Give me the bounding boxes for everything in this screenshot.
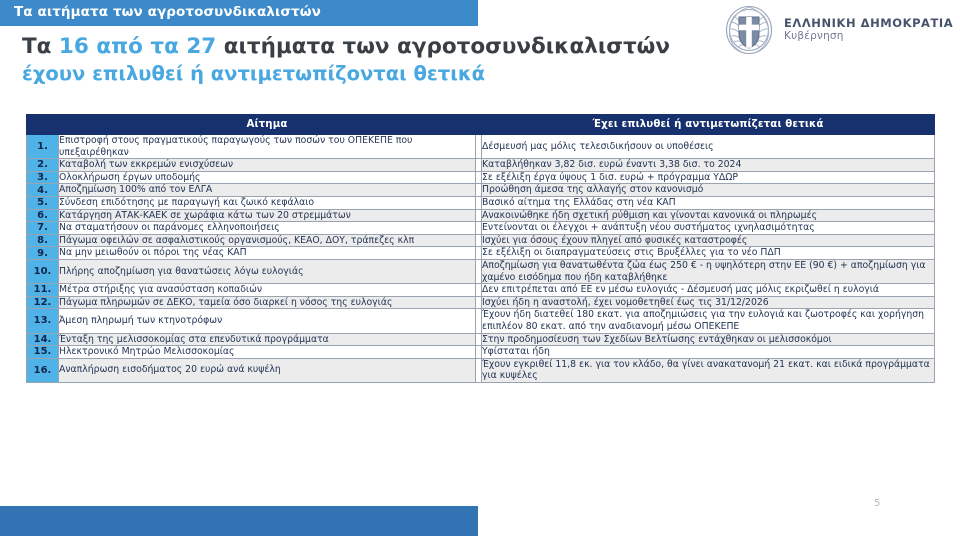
logo-line-1: ΕΛΛΗΝΙΚΗ ΔΗΜΟΚΡΑΤΙΑ xyxy=(784,17,953,30)
table-row: 1.Επιστροφή στους πραγματικούς παραγωγού… xyxy=(27,135,935,159)
footer-bar xyxy=(0,506,478,536)
headline-count-16: 16 xyxy=(59,34,89,59)
row-number: 6. xyxy=(27,209,59,222)
row-number: 14. xyxy=(27,333,59,346)
row-request-text: Καταβολή των εκκρεμών ενισχύσεων xyxy=(59,159,476,172)
row-request-text: Σύνδεση επιδότησης με παραγωγή και ζωικό… xyxy=(59,196,476,209)
row-answer-text: Αποζημίωση για θανατωθέντα ζώα έως 250 €… xyxy=(482,259,935,283)
row-answer-text: Έχουν εγκριθεί 11,8 εκ. για τον κλάδο, θ… xyxy=(482,358,935,382)
row-answer-text: Ανακοινώθηκε ήδη σχετική ρύθμιση και γίν… xyxy=(482,209,935,222)
row-request-text: Ένταξη της μελισσοκομίας στα επενδυτικά … xyxy=(59,333,476,346)
row-answer-text: Ισχύει ήδη η αναστολή, έχει νομοθετηθεί … xyxy=(482,296,935,309)
headline-line-2: έχουν επιλυθεί ή αντιμετωπίζονται θετικά xyxy=(22,61,662,86)
row-answer-text: Υφίσταται ήδη xyxy=(482,346,935,359)
table-row: 5.Σύνδεση επιδότησης με παραγωγή και ζωι… xyxy=(27,196,935,209)
row-number: 10. xyxy=(27,259,59,283)
row-answer-text: Στην προδημοσίευση των Σχεδίων Βελτίωσης… xyxy=(482,333,935,346)
slide-canvas: Τα αιτήματα των αγροτοσυνδικαλιστών Τα 1… xyxy=(0,0,960,536)
row-request-text: Αναπλήρωση εισοδήματος 20 ευρώ ανά κυψέλ… xyxy=(59,358,476,382)
row-number: 11. xyxy=(27,284,59,297)
table-row: 16.Αναπλήρωση εισοδήματος 20 ευρώ ανά κυ… xyxy=(27,358,935,382)
table-row: 15.Ηλεκτρονικό Μητρώο ΜελισσοκομίαςΥφίστ… xyxy=(27,346,935,359)
eyebrow-bar: Τα αιτήματα των αγροτοσυνδικαλιστών xyxy=(0,0,478,26)
col-header-answer: Έχει επιλυθεί ή αντιμετωπίζεται θετικά xyxy=(482,115,935,135)
row-request-text: Ολοκλήρωση έργων υποδομής xyxy=(59,171,476,184)
row-number: 4. xyxy=(27,184,59,197)
headline-seg-b: από xyxy=(89,34,151,59)
row-number: 2. xyxy=(27,159,59,172)
row-number: 5. xyxy=(27,196,59,209)
row-number: 9. xyxy=(27,247,59,260)
col-header-number xyxy=(27,115,59,135)
row-request-text: Αποζημίωση 100% από τον ΕΛΓΑ xyxy=(59,184,476,197)
table-row: 2.Καταβολή των εκκρεμών ενισχύσεωνΚαταβλ… xyxy=(27,159,935,172)
greek-coat-of-arms-icon xyxy=(723,4,775,56)
table-row: 8.Πάγωμα οφειλών σε ασφαλιστικούς οργανι… xyxy=(27,234,935,247)
col-header-request: Αίτημα xyxy=(59,115,476,135)
headline-count-27: τα 27 xyxy=(150,34,216,59)
table-header-row: Αίτημα Έχει επιλυθεί ή αντιμετωπίζεται θ… xyxy=(27,115,935,135)
requests-table-wrapper: Αίτημα Έχει επιλυθεί ή αντιμετωπίζεται θ… xyxy=(26,114,934,383)
row-request-text: Πάγωμα οφειλών σε ασφαλιστικούς οργανισμ… xyxy=(59,234,476,247)
row-request-text: Ηλεκτρονικό Μητρώο Μελισσοκομίας xyxy=(59,346,476,359)
row-number: 13. xyxy=(27,309,59,333)
headline-seg-c: αιτήματα των αγροτοσυνδικαλιστών xyxy=(216,34,670,59)
row-request-text: Άμεση πληρωμή των κτηνοτρόφων xyxy=(59,309,476,333)
government-logo: ΕΛΛΗΝΙΚΗ ΔΗΜΟΚΡΑΤΙΑ Κυβέρνηση xyxy=(723,4,953,56)
table-row: 10.Πλήρης αποζημίωση για θανατώσεις λόγω… xyxy=(27,259,935,283)
row-request-text: Να μην μειωθούν οι πόροι της νέας ΚΑΠ xyxy=(59,247,476,260)
table-row: 9.Να μην μειωθούν οι πόροι της νέας ΚΑΠΣ… xyxy=(27,247,935,260)
table-head: Αίτημα Έχει επιλυθεί ή αντιμετωπίζεται θ… xyxy=(27,115,935,135)
table-row: 14.Ένταξη της μελισσοκομίας στα επενδυτι… xyxy=(27,333,935,346)
row-request-text: Επιστροφή στους πραγματικούς παραγωγούς … xyxy=(59,135,476,159)
row-request-text: Πλήρης αποζημίωση για θανατώσεις λόγω ευ… xyxy=(59,259,476,283)
row-answer-text: Ισχύει για όσους έχουν πληγεί από φυσικέ… xyxy=(482,234,935,247)
row-number: 15. xyxy=(27,346,59,359)
table-row: 4.Αποζημίωση 100% από τον ΕΛΓΑΠροώθηση ά… xyxy=(27,184,935,197)
table-body: 1.Επιστροφή στους πραγματικούς παραγωγού… xyxy=(27,135,935,383)
table-row: 11.Μέτρα στήριξης για ανασύσταση κοπαδιώ… xyxy=(27,284,935,297)
row-number: 3. xyxy=(27,171,59,184)
row-number: 12. xyxy=(27,296,59,309)
row-answer-text: Προώθηση άμεσα της αλλαγής στον κανονισμ… xyxy=(482,184,935,197)
row-number: 7. xyxy=(27,222,59,235)
requests-table: Αίτημα Έχει επιλυθεί ή αντιμετωπίζεται θ… xyxy=(26,114,935,383)
headline-line-1: Τα 16 από τα 27 αιτήματα των αγροτοσυνδι… xyxy=(22,34,662,59)
row-number: 1. xyxy=(27,135,59,159)
row-answer-text: Καταβλήθηκαν 3,82 δισ. ευρώ έναντι 3,38 … xyxy=(482,159,935,172)
row-request-text: Κατάργηση ΑΤΑΚ-ΚΑΕΚ σε χωράφια κάτω των … xyxy=(59,209,476,222)
row-answer-text: Σε εξέλιξη έργα ύψους 1 δισ. ευρώ + πρόγ… xyxy=(482,171,935,184)
logo-text-block: ΕΛΛΗΝΙΚΗ ΔΗΜΟΚΡΑΤΙΑ Κυβέρνηση xyxy=(784,17,953,43)
table-row: 12.Πάγωμα πληρωμών σε ΔΕΚΟ, ταμεία όσο δ… xyxy=(27,296,935,309)
row-answer-text: Σε εξέλιξη οι διαπραγματεύσεις στις Βρυξ… xyxy=(482,247,935,260)
row-request-text: Μέτρα στήριξης για ανασύσταση κοπαδιών xyxy=(59,284,476,297)
page-number: 5 xyxy=(874,498,880,509)
row-answer-text: Δέσμευσή μας μόλις τελεσιδικήσουν οι υπο… xyxy=(482,135,935,159)
table-row: 7.Να σταματήσουν οι παράνομες ελληνοποιή… xyxy=(27,222,935,235)
table-row: 13.Άμεση πληρωμή των κτηνοτρόφωνΈχουν ήδ… xyxy=(27,309,935,333)
row-request-text: Να σταματήσουν οι παράνομες ελληνοποιήσε… xyxy=(59,222,476,235)
row-request-text: Πάγωμα πληρωμών σε ΔΕΚΟ, ταμεία όσο διαρ… xyxy=(59,296,476,309)
row-answer-text: Δεν επιτρέπεται από ΕΕ εν μέσω ευλογιάς … xyxy=(482,284,935,297)
row-answer-text: Έχουν ήδη διατεθεί 180 εκατ. για αποζημι… xyxy=(482,309,935,333)
headline-seg-a: Τα xyxy=(22,34,59,59)
row-answer-text: Βασικό αίτημα της Ελλάδας στη νέα ΚΑΠ xyxy=(482,196,935,209)
table-row: 6.Κατάργηση ΑΤΑΚ-ΚΑΕΚ σε χωράφια κάτω τω… xyxy=(27,209,935,222)
row-number: 8. xyxy=(27,234,59,247)
row-number: 16. xyxy=(27,358,59,382)
table-row: 3.Ολοκλήρωση έργων υποδομήςΣε εξέλιξη έρ… xyxy=(27,171,935,184)
eyebrow-title: Τα αιτήματα των αγροτοσυνδικαλιστών xyxy=(14,4,321,20)
row-answer-text: Εντείνονται οι έλεγχοι + ανάπτυξη νέου σ… xyxy=(482,222,935,235)
page-title: Τα 16 από τα 27 αιτήματα των αγροτοσυνδι… xyxy=(22,34,662,86)
logo-line-2: Κυβέρνηση xyxy=(784,31,953,43)
